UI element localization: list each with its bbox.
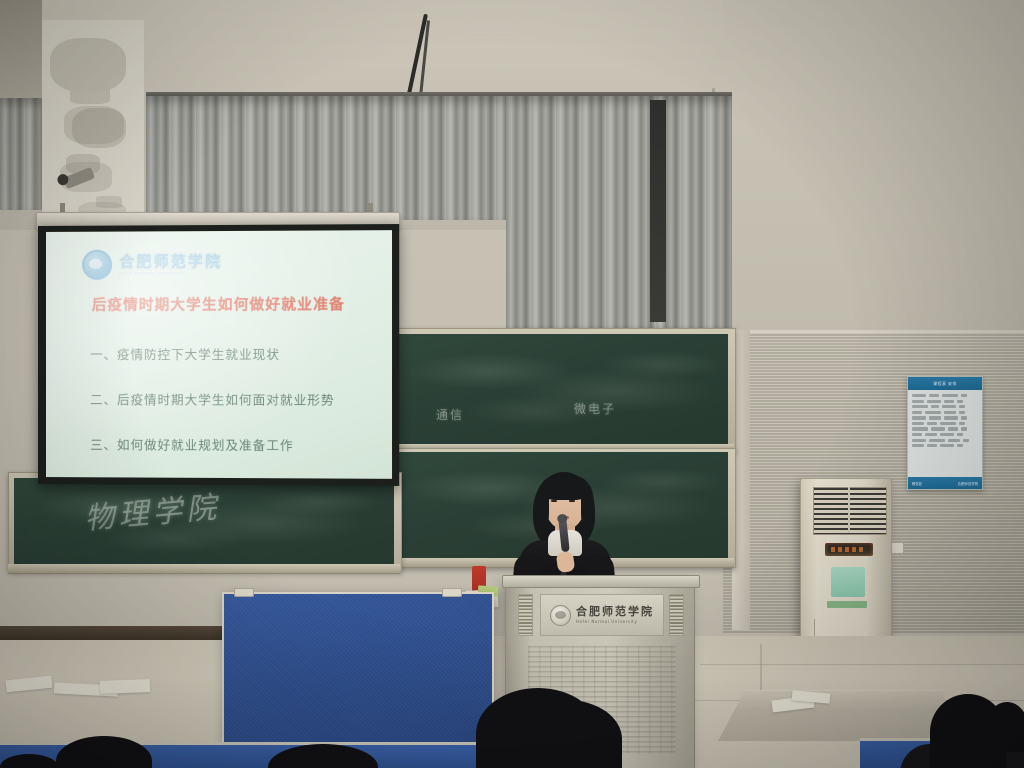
notice-cell xyxy=(940,433,954,436)
notice-cell xyxy=(912,394,926,397)
floor-paper-3 xyxy=(100,679,150,694)
podium-vent-right xyxy=(669,594,684,636)
notice-cell xyxy=(940,444,954,447)
notice-header: 课程表 安排 xyxy=(908,377,982,390)
curtain-main xyxy=(146,96,508,220)
window-gap xyxy=(650,100,666,322)
curtain-left xyxy=(0,98,42,210)
notice-row xyxy=(912,394,978,397)
notice-cell xyxy=(957,433,963,436)
ac-display-panel[interactable] xyxy=(825,543,873,556)
notice-cell xyxy=(959,405,965,408)
chalk-text-left: 通信 xyxy=(436,406,464,423)
notice-cell xyxy=(912,433,922,436)
slide-line-3: 三、如何做好就业规划及准备工作 xyxy=(90,434,365,454)
notice-cell xyxy=(929,439,945,442)
notice-cell xyxy=(931,427,945,430)
notice-cell xyxy=(931,405,939,408)
notice-row xyxy=(912,439,978,442)
notice-cell xyxy=(942,405,956,408)
notice-cell xyxy=(959,422,965,425)
notice-cell xyxy=(929,416,941,419)
floor-step-platform xyxy=(718,690,944,741)
slide-logo-subtext: HEFEI NORMAL UNIVERSITY xyxy=(119,271,222,275)
notice-cell xyxy=(925,433,937,436)
podium-vent-left xyxy=(518,594,533,636)
notice-cell xyxy=(961,427,967,430)
notice-cell xyxy=(963,439,969,442)
podium-plaque: 合肥师范学院 Hefei Normal University xyxy=(540,594,664,636)
blackboard-ledge-left xyxy=(8,564,400,574)
wall-notice-board: 课程表 安排 教务处 合肥师范学院 xyxy=(907,376,983,490)
notice-cell xyxy=(927,400,941,403)
notice-row xyxy=(912,433,978,436)
podium-name-en: Hefei Normal University xyxy=(576,620,654,625)
notice-cell xyxy=(948,427,958,430)
notice-row xyxy=(912,416,978,419)
notice-footer: 教务处 合肥师范学院 xyxy=(908,477,982,489)
floor-tile-line-2 xyxy=(700,664,1024,665)
podium-top-surface xyxy=(502,575,700,588)
lecture-hall-photo: 通信 微电子 物理学院 合肥师范学院 HEFEI NORMAL UNIVERSI… xyxy=(0,0,1024,768)
board-clip-right xyxy=(442,588,462,597)
notice-table xyxy=(908,390,982,451)
ac-louvers-icon xyxy=(813,487,887,535)
slide-line-2: 二、后疫情时期大学生如何面对就业形势 xyxy=(90,389,365,409)
notice-cell xyxy=(961,416,967,419)
slide-line-1: 一、疫情防控下大学生就业现状 xyxy=(90,344,365,363)
notice-footer-left: 教务处 xyxy=(912,481,922,486)
slide-body: 一、疫情防控下大学生就业现状 二、后疫情时期大学生如何面对就业形势 三、如何做好… xyxy=(90,344,365,479)
notice-row xyxy=(912,427,978,430)
notice-cell xyxy=(912,427,928,430)
presenter-hair-right xyxy=(581,484,594,528)
notice-cell xyxy=(912,405,928,408)
projection-screen: 合肥师范学院 HEFEI NORMAL UNIVERSITY 后疫情时期大学生如… xyxy=(38,224,399,486)
notice-row xyxy=(912,444,978,447)
notice-cell xyxy=(957,444,963,447)
blue-notice-board[interactable] xyxy=(222,592,494,746)
curtain-right xyxy=(506,96,732,328)
notice-cell xyxy=(912,411,922,414)
ac-brand-mark xyxy=(827,601,867,608)
wall-right-upper xyxy=(723,0,1024,332)
slide-logo-text: 合肥师范学院 xyxy=(119,254,222,269)
notice-cell xyxy=(912,416,926,419)
notice-cell xyxy=(912,400,924,403)
notice-cell xyxy=(912,439,926,442)
notice-cell xyxy=(961,394,967,397)
blackboard-left: 物理学院 xyxy=(14,478,394,564)
wall-peeling-paint xyxy=(42,20,144,225)
notice-cell xyxy=(912,444,924,447)
baseboard-left xyxy=(0,626,222,640)
ac-louver-divider xyxy=(848,487,850,533)
notice-footer-right: 合肥师范学院 xyxy=(958,481,978,486)
notice-cell xyxy=(929,394,939,397)
notice-cell xyxy=(959,411,965,414)
podium-name-cn: 合肥师范学院 xyxy=(576,606,654,619)
notice-cell xyxy=(944,416,958,419)
notice-cell xyxy=(925,411,941,414)
slide-surface: 合肥师范学院 HEFEI NORMAL UNIVERSITY 后疫情时期大学生如… xyxy=(46,230,392,479)
notice-cell xyxy=(948,439,960,442)
audience-head-center-2 xyxy=(512,700,622,768)
ac-label xyxy=(831,567,865,597)
blackboard-right-top: 通信 微电子 xyxy=(396,334,728,444)
notice-row xyxy=(912,411,978,414)
notice-row xyxy=(912,405,978,408)
slide-title: 后疫情时期大学生如何做好就业准备 xyxy=(46,293,392,315)
notice-cell xyxy=(940,422,956,425)
notice-cell xyxy=(944,400,954,403)
presenter-hair-left xyxy=(536,484,549,528)
chalk-text-right: 微电子 xyxy=(574,400,616,417)
notice-cell xyxy=(927,444,937,447)
presenter-hand xyxy=(556,551,576,573)
university-emblem-icon xyxy=(82,250,112,280)
audience-head-far-right xyxy=(986,702,1024,752)
notice-row xyxy=(912,400,978,403)
notice-cell xyxy=(942,394,958,397)
notice-cell xyxy=(944,411,956,414)
notice-cell xyxy=(927,422,937,425)
slide-logo: 合肥师范学院 HEFEI NORMAL UNIVERSITY xyxy=(82,249,222,280)
notice-cell xyxy=(957,400,963,403)
board-clip-left xyxy=(234,588,254,597)
chalk-scrawl: 物理学院 xyxy=(82,482,221,538)
notice-cell xyxy=(912,422,924,425)
podium-seal-icon xyxy=(550,605,571,626)
notice-row xyxy=(912,422,978,425)
